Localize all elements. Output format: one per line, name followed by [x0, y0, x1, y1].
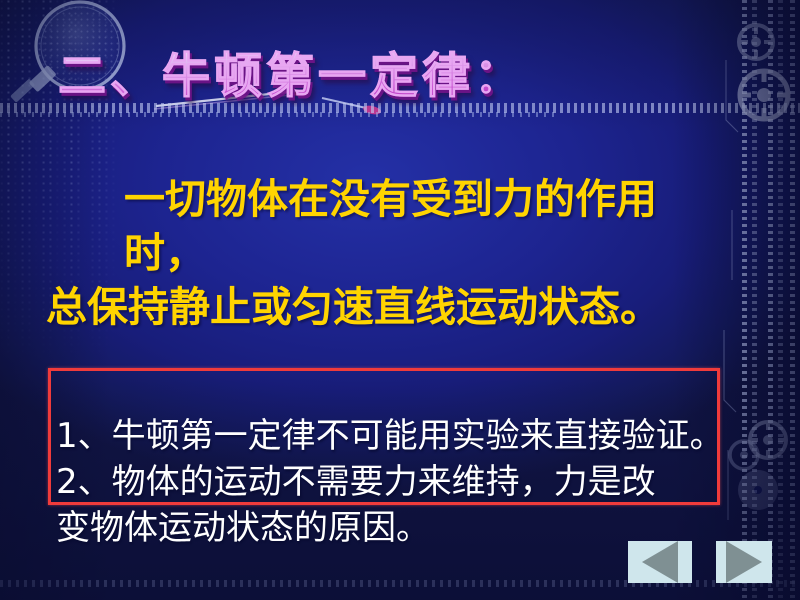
next-slide-button[interactable]: [716, 541, 772, 583]
presentation-slide: 二、牛顿第一定律： 一切物体在没有受到力的作用时， 总保持静止或匀速直线运动状态…: [0, 0, 800, 600]
law-statement-line-2: 总保持静止或匀速直线运动状态。: [46, 280, 736, 334]
previous-slide-button[interactable]: [628, 541, 692, 583]
note-item-2: 2、物体的运动不需要力来维持，力是改: [56, 459, 756, 505]
slide-title: 二、牛顿第一定律：: [58, 40, 526, 106]
note-item-1: 1、牛顿第一定律不可能用实验来直接验证。: [56, 413, 756, 459]
triangle-right-icon: [726, 541, 762, 583]
law-statement-line-1: 一切物体在没有受到力的作用时，: [46, 172, 736, 280]
triangle-left-icon: [642, 541, 678, 583]
law-statement: 一切物体在没有受到力的作用时， 总保持静止或匀速直线运动状态。: [46, 172, 736, 334]
notes-list: 1、牛顿第一定律不可能用实验来直接验证。 2、物体的运动不需要力来维持，力是改 …: [56, 413, 756, 551]
slide-title-container: 二、牛顿第一定律：: [0, 40, 800, 107]
